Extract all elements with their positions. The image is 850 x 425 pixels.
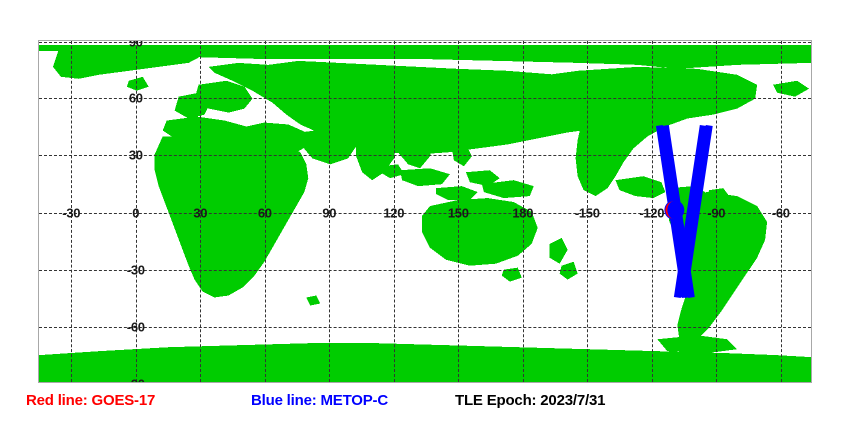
lon-tick-label: 180 xyxy=(512,206,533,219)
lon-tick-label: 30 xyxy=(193,206,207,219)
world-map-panel: -30 0 30 60 90 120 150 180 -150 -120 -90… xyxy=(38,40,812,383)
lon-tick-label: 60 xyxy=(258,206,272,219)
lon-tick-label: 0 xyxy=(132,206,139,219)
lat-tick-label: 90 xyxy=(129,40,143,48)
lat-tick-label: -60 xyxy=(127,320,145,333)
map-plot-area: -30 0 30 60 90 120 150 180 -150 -120 -90… xyxy=(39,41,811,382)
lon-tick-label: -90 xyxy=(707,206,725,219)
legend-entry-tle-epoch: TLE Epoch: 2023/7/31 xyxy=(455,392,605,409)
satellite-track-layer xyxy=(39,41,811,382)
lon-tick-label: -120 xyxy=(639,206,664,219)
legend-entry-goes17: Red line: GOES-17 xyxy=(26,392,155,409)
chart-legend: Red line: GOES-17 Blue line: METOP-C TLE… xyxy=(0,392,850,420)
lon-tick-label: 120 xyxy=(383,206,404,219)
legend-entry-metopc: Blue line: METOP-C xyxy=(251,392,388,409)
lat-tick-label: -90 xyxy=(127,377,145,383)
lat-tick-label: -30 xyxy=(127,263,145,276)
lat-tick-label: 30 xyxy=(129,149,143,162)
metop-c-crossing-node xyxy=(664,200,684,220)
lon-tick-label: -30 xyxy=(62,206,80,219)
lon-tick-label: 150 xyxy=(448,206,469,219)
lat-tick-label: 60 xyxy=(129,92,143,105)
lon-tick-label: -150 xyxy=(575,206,600,219)
lon-tick-label: -60 xyxy=(772,206,790,219)
lon-tick-label: 90 xyxy=(322,206,336,219)
